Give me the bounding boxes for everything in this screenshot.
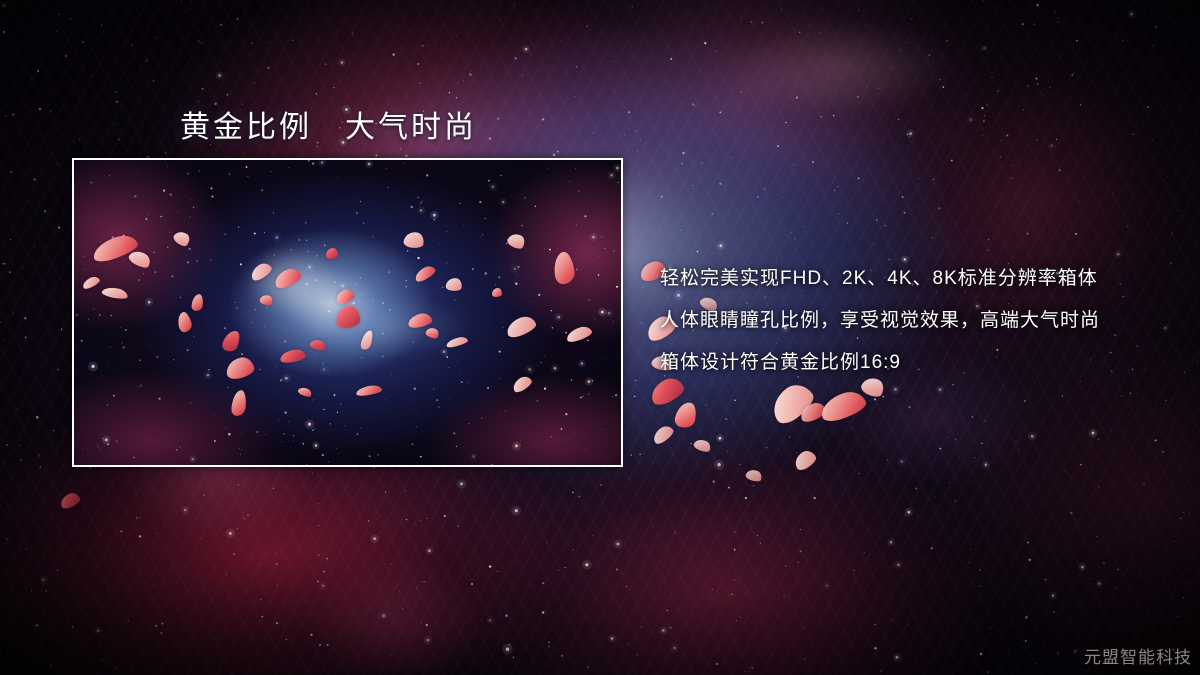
flower-petal-icon	[407, 312, 433, 329]
flower-petal-icon	[510, 374, 533, 394]
flower-petal-icon	[359, 329, 374, 351]
flower-petal-icon	[552, 251, 576, 285]
watermark: 元盟智能科技	[1084, 643, 1192, 668]
body-copy: 轻松完美实现FHD、2K、4K、8K标准分辨率箱体 人体眼睛瞳孔比例，享受视觉效…	[660, 258, 1180, 384]
flower-petal-icon	[335, 305, 361, 329]
body-line-3: 箱体设计符合黄金比例16:9	[660, 342, 1180, 384]
flower-petal-icon	[492, 288, 502, 297]
framed-image	[74, 160, 621, 465]
flower-petal-icon	[248, 260, 274, 282]
flower-petal-icon	[445, 277, 463, 292]
flower-petal-icon	[504, 313, 538, 339]
flower-petal-icon	[445, 335, 468, 348]
flower-petal-icon	[101, 285, 129, 300]
body-line-1: 轻松完美实现FHD、2K、4K、8K标准分辨率箱体	[660, 258, 1180, 300]
flower-petal-icon	[279, 348, 306, 364]
flower-petal-icon	[356, 384, 383, 397]
flower-petal-icon	[424, 326, 440, 341]
body-line-2: 人体眼睛瞳孔比例，享受视觉效果，高端大气时尚	[660, 300, 1180, 342]
flower-petal-icon	[403, 230, 425, 249]
flower-petal-icon	[172, 228, 193, 248]
flower-petal-icon	[231, 389, 248, 416]
flower-petal-icon	[220, 328, 242, 354]
flower-petal-icon	[506, 231, 528, 252]
page-title: 黄金比例 大气时尚	[180, 102, 477, 146]
flower-petal-icon	[259, 293, 274, 307]
flower-petal-icon	[326, 248, 338, 259]
flower-petal-icon	[81, 275, 101, 291]
flower-petal-icon	[224, 355, 256, 380]
flower-petal-icon	[191, 293, 204, 311]
flower-petal-icon	[565, 324, 593, 343]
framed-petals-layer	[74, 160, 621, 465]
flower-petal-icon	[413, 263, 438, 283]
flower-petal-icon	[176, 311, 193, 334]
presentation-slide: 黄金比例 大气时尚 轻松完美实现FHD、2K、4K、8K标准分辨率箱体 人体眼睛…	[0, 0, 1200, 675]
flower-petal-icon	[272, 266, 303, 291]
flower-petal-icon	[297, 385, 313, 398]
flower-petal-icon	[309, 338, 327, 353]
flower-petal-icon	[334, 288, 355, 306]
picture-frame	[72, 158, 623, 467]
